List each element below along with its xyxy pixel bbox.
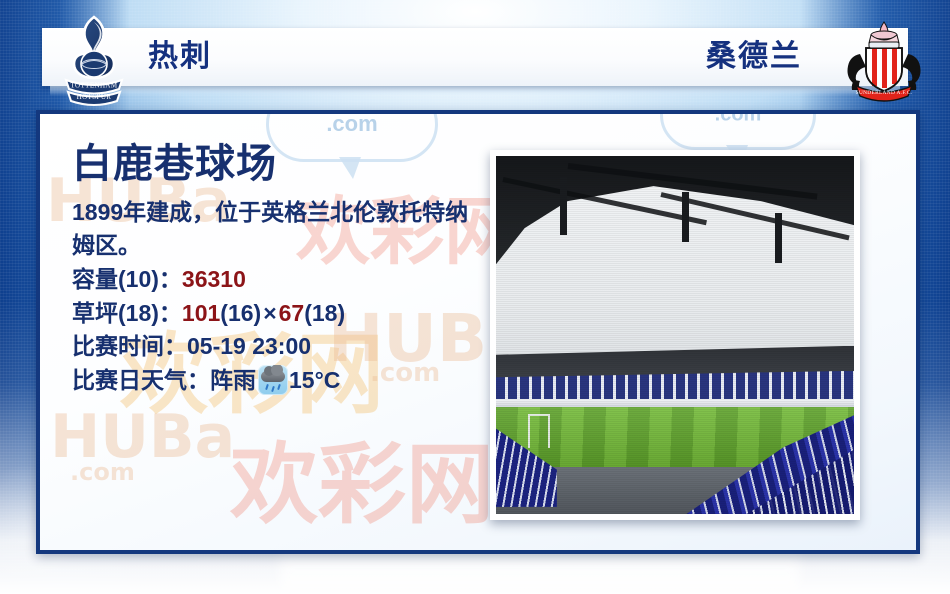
capacity-value: 36310 — [182, 266, 246, 292]
weather-condition: 阵雨 — [210, 367, 256, 393]
pitch-width-value: 67 — [279, 300, 305, 326]
capacity-label: 容量(10) — [72, 266, 159, 292]
stadium-photo-frame — [490, 150, 860, 520]
weather-label: 比赛日天气 — [72, 367, 187, 393]
away-team-name: 桑德兰 — [706, 30, 802, 84]
capacity-colon: ： — [159, 266, 182, 292]
pitch-label: 草坪(18) — [72, 300, 159, 326]
pitch-colon: ： — [159, 300, 182, 326]
slide-canvas: 热刺 桑德兰 TOTTENHAM HOTSPUR — [0, 0, 950, 594]
pitch-width-unit: (18) — [304, 300, 345, 326]
watermark-domain: .com — [269, 111, 435, 137]
kickoff-value: 05-19 23:00 — [187, 333, 311, 359]
capacity-row: 容量(10)：36310 — [72, 263, 492, 297]
pitch-length-value: 101 — [182, 300, 220, 326]
watermark-domain: .com — [663, 110, 813, 127]
header-shadow — [50, 86, 900, 96]
home-team-name: 热刺 — [148, 30, 212, 84]
pitch-row: 草坪(18)：101(16)×67(18) — [72, 297, 492, 331]
stadium-title: 白鹿巷球场 — [72, 142, 492, 186]
watermark-domain: .com — [70, 458, 135, 486]
weather-colon: ： — [187, 367, 210, 393]
pitch-length-unit: (16) — [220, 300, 261, 326]
watermark-text-en: HUBa — [50, 402, 235, 472]
weather-temperature: 15°C — [289, 367, 340, 393]
stadium-photo — [496, 156, 854, 514]
stadium-info-panel: .com .com HUBa 欢彩网 欢彩网 HUBa .com 欢彩网 HUB… — [36, 110, 920, 554]
kickoff-colon: ： — [164, 333, 187, 359]
watermark-text-cn: 欢彩网 — [230, 414, 494, 541]
pitch-times-symbol: × — [261, 300, 278, 326]
kickoff-row: 比赛时间：05-19 23:00 — [72, 330, 492, 364]
tottenham-hotspur-crest: TOTTENHAM HOTSPUR — [58, 14, 130, 106]
svg-text:SUNDERLAND A.F.C.: SUNDERLAND A.F.C. — [856, 90, 913, 96]
photo-grain — [496, 156, 854, 514]
kickoff-label: 比赛时间 — [72, 333, 164, 359]
watermark-bubble: .com — [660, 110, 816, 150]
weather-row: 比赛日天气：阵雨15°C — [72, 364, 492, 398]
svg-text:HOTSPUR: HOTSPUR — [77, 93, 112, 101]
svg-text:TOTTENHAM: TOTTENHAM — [70, 82, 117, 90]
sunderland-afc-crest: SUNDERLAND A.F.C. — [840, 18, 928, 102]
stadium-description: 1899年建成，位于英格兰北伦敦托特纳姆区。 — [72, 196, 487, 261]
stadium-info-column: 白鹿巷球场 1899年建成，位于英格兰北伦敦托特纳姆区。 容量(10)：3631… — [72, 142, 492, 398]
rain-shower-icon — [258, 365, 288, 395]
